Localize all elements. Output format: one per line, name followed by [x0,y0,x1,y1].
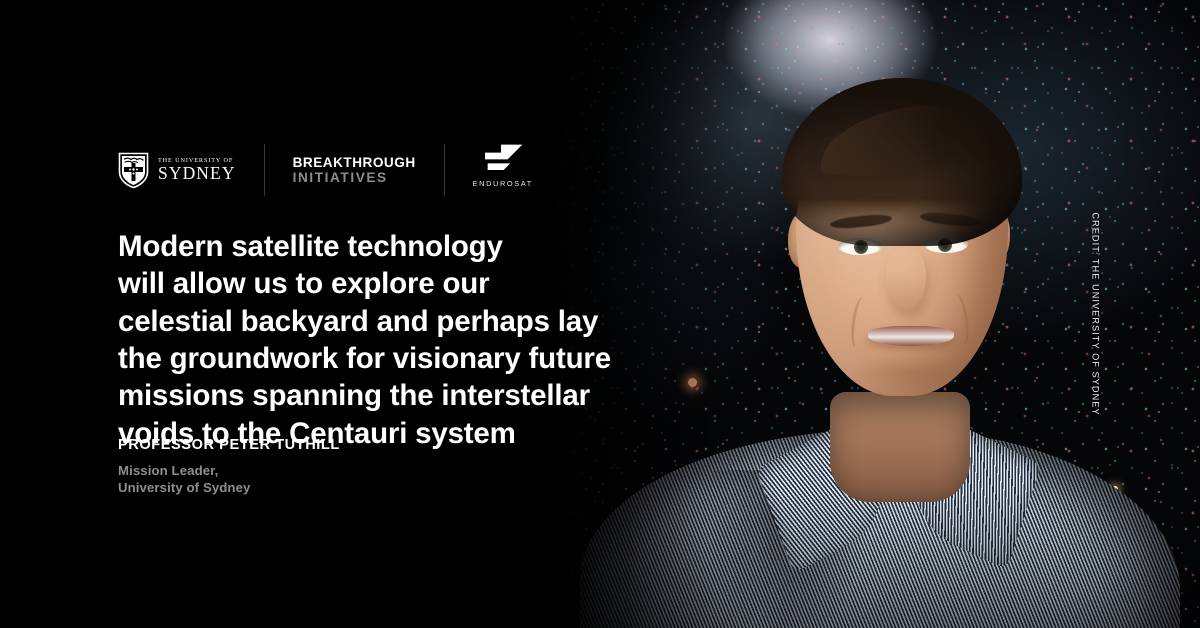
breakthrough-line1: BREAKTHROUGH [293,155,416,170]
quote-line: Modern satellite technology [118,228,638,265]
logo-university-of-sydney[interactable]: THE UNIVERSITY OF SYDNEY [118,143,236,197]
content-column: THE UNIVERSITY OF SYDNEY BREAKTHROUGH IN… [0,0,640,628]
mouth [868,326,954,346]
quote-line: celestial backyard and perhaps lay [118,303,638,340]
breakthrough-line2: INITIATIVES [293,170,416,185]
sydney-logo-line2: SYDNEY [158,165,236,183]
sydney-shield-icon [118,152,149,189]
quote-line: the groundwork for visionary future [118,340,638,377]
logo-bar: THE UNIVERSITY OF SYDNEY BREAKTHROUGH IN… [118,143,533,197]
logo-endurosat[interactable]: ENDUROSAT [473,143,533,197]
quote-line: will allow us to explore our [118,265,638,302]
nose [886,248,926,310]
attribution: PROFESSOR PETER TUTHILL Mission Leader, … [118,437,578,497]
attribution-name: PROFESSOR PETER TUTHILL [118,437,578,453]
chin-shadow [850,352,970,392]
logo-divider-2 [444,144,445,196]
attribution-role-line: University of Sydney [118,480,578,497]
endurosat-wordmark: ENDUROSAT [473,179,533,188]
logo-breakthrough-initiatives[interactable]: BREAKTHROUGH INITIATIVES [293,143,416,197]
quote-line: missions spanning the interstellar [118,377,638,414]
attribution-role-line: Mission Leader, [118,463,578,480]
attribution-role: Mission Leader, University of Sydney [118,463,578,497]
neck [830,392,970,502]
quote-text: Modern satellite technology will allow u… [118,228,638,452]
endurosat-chevron-icon [481,143,525,173]
quote-card: THE UNIVERSITY OF SYDNEY BREAKTHROUGH IN… [0,0,1200,628]
photo-credit: CREDIT: THE UNIVERSITY OF SYDNEY [1090,212,1100,415]
logo-divider-1 [264,144,265,196]
